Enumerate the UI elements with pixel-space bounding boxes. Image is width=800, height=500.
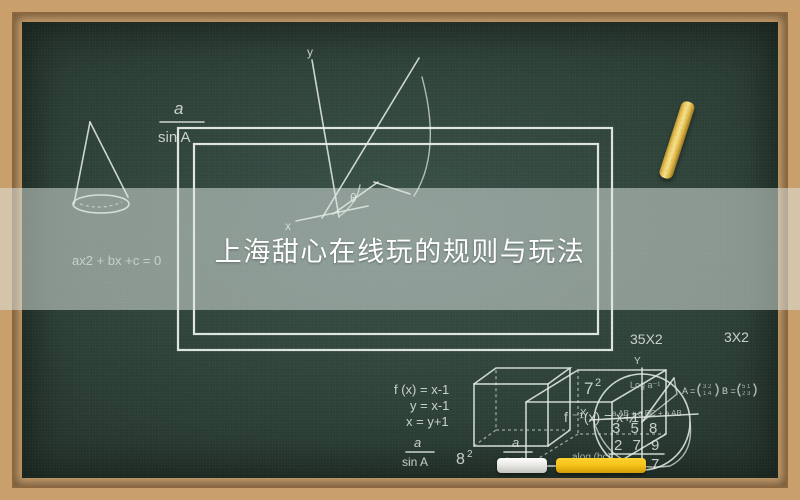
svg-text:x = y+1: x = y+1 [406, 414, 449, 429]
svg-text:7: 7 [584, 379, 593, 398]
svg-text:Y: Y [634, 356, 641, 367]
svg-text:a: a [512, 435, 519, 450]
fraction-a-over-sinA-left: a sin A [402, 435, 434, 469]
fraction-a-over-sinA-top: a sin A [158, 99, 204, 146]
svg-text:2: 2 [467, 449, 473, 460]
svg-text:y: y [307, 45, 313, 59]
poster-stage: .ck { stroke:#e4eae5; stroke-width:1.6; … [0, 0, 800, 500]
seven-squared: 7 2 [584, 377, 601, 398]
svg-text:A =: A = [682, 386, 695, 396]
svg-text:a: a [174, 99, 183, 118]
svg-text:a: a [414, 435, 421, 450]
page-title: 上海甜心在线玩的规则与玩法 [215, 230, 586, 269]
svg-text:2: 2 [595, 377, 601, 389]
mult-3x2: 3X2 [724, 329, 749, 345]
svg-text:sin A: sin A [402, 455, 428, 469]
svg-text:X: X [580, 408, 587, 419]
svg-text:B =: B = [722, 386, 736, 396]
eight-squared: 8 2 [456, 449, 473, 468]
tray-yellow-chalk [556, 458, 646, 473]
svg-text:f (x) = x-1: f (x) = x-1 [394, 382, 449, 397]
svg-text:5 1: 5 1 [742, 384, 751, 390]
svg-text:3 2: 3 2 [703, 384, 712, 390]
title-overlay-band: 上海甜心在线玩的规则与玩法 [0, 188, 800, 310]
cube-wireframe-center [474, 368, 570, 446]
svg-text:1 4: 1 4 [703, 391, 712, 397]
svg-text:y = x-1: y = x-1 [410, 398, 449, 413]
svg-text:2 3: 2 3 [742, 391, 751, 397]
mult-35x2: 35X2 [630, 331, 663, 347]
tray-white-chalk [497, 458, 547, 473]
svg-text:8: 8 [456, 451, 465, 468]
svg-text:sin A: sin A [158, 129, 191, 146]
matrix-expressions: A = 3 2 1 4 B = 5 1 2 3 [682, 384, 756, 397]
function-equations: f (x) = x-1 y = x-1 x = y+1 [394, 382, 449, 429]
